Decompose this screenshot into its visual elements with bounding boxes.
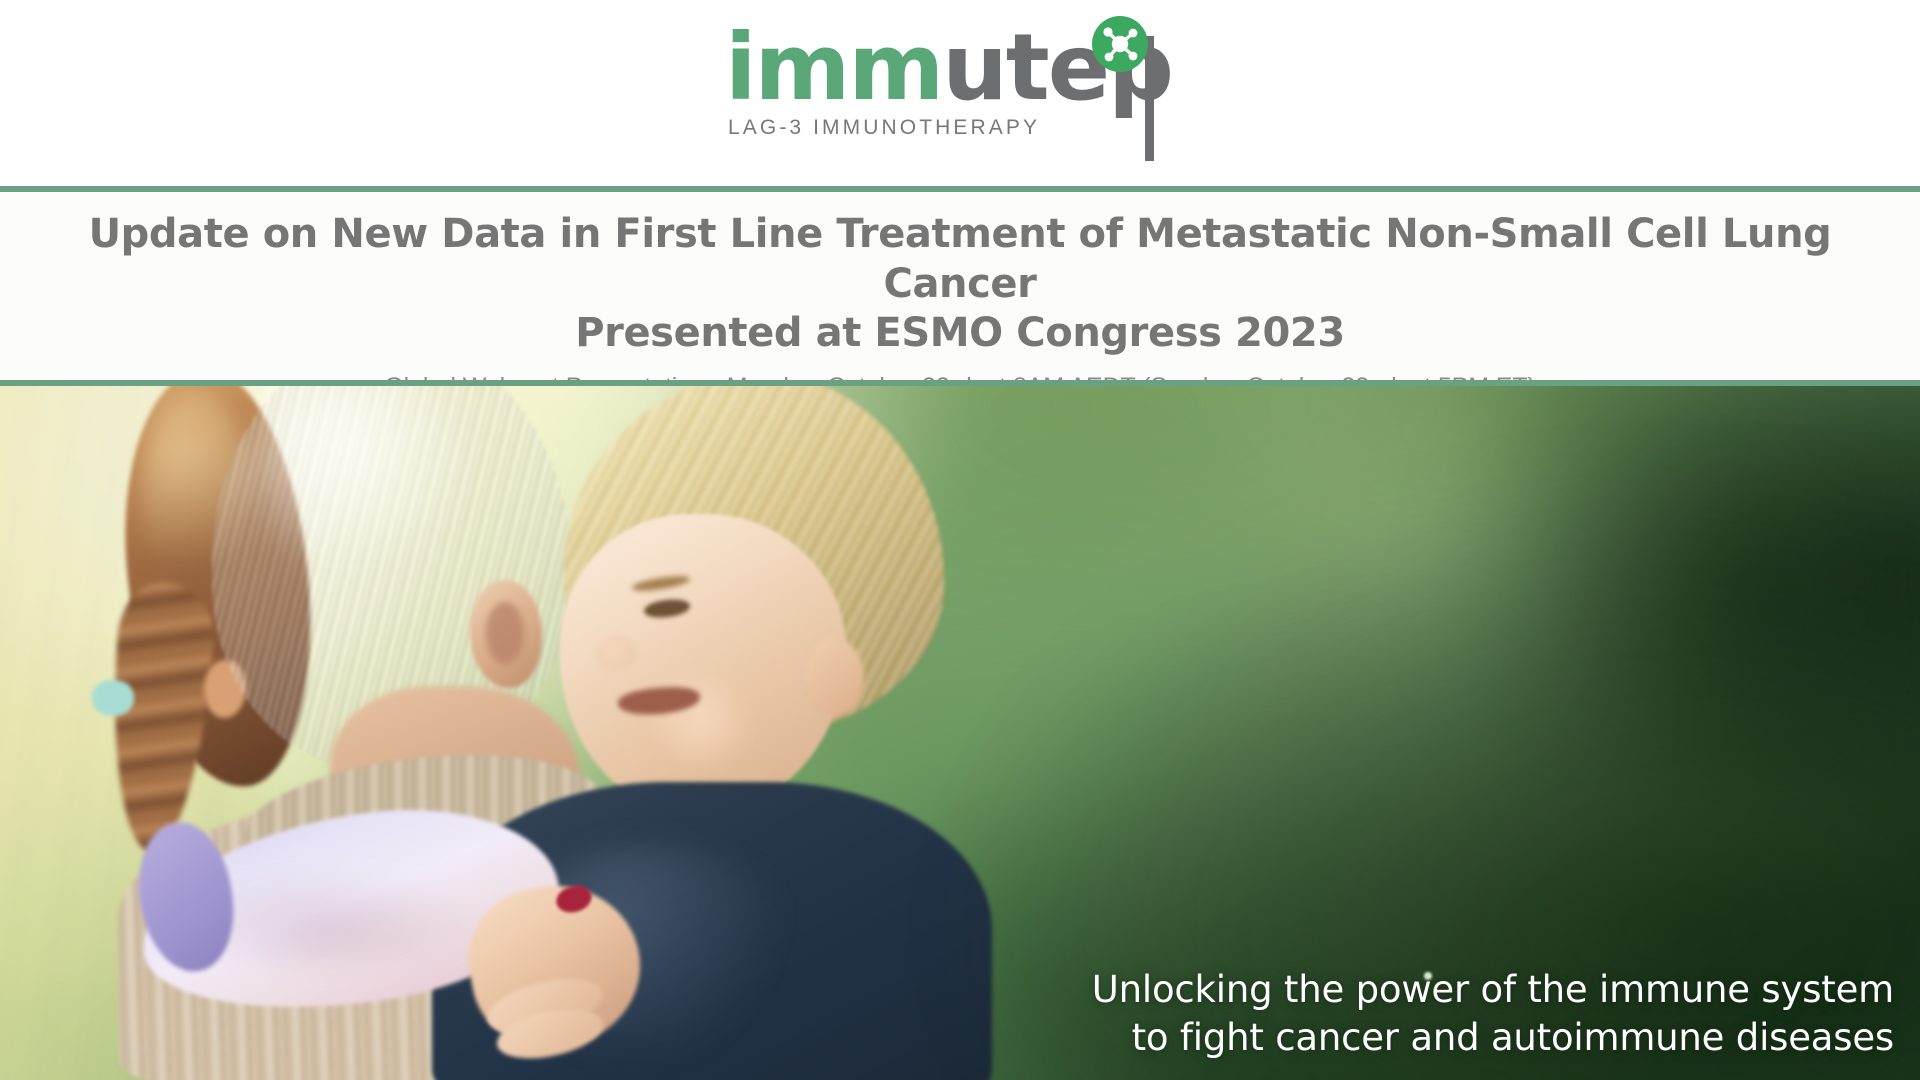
logo-tagline: LAG-3 IMMUNOTHERAPY bbox=[728, 116, 1040, 140]
hero-tagline: Unlocking the power of the immune system… bbox=[1092, 966, 1894, 1062]
page-title: Update on New Data in First Line Treatme… bbox=[0, 210, 1920, 359]
hero-tagline-line-2: to fight cancer and autoimmune diseases bbox=[1092, 1014, 1894, 1062]
hero-photo: Unlocking the power of the immune system… bbox=[0, 386, 1920, 1080]
boy-cheek-highlight bbox=[640, 672, 760, 766]
page-title-line-1: Update on New Data in First Line Treatme… bbox=[30, 210, 1890, 309]
page-title-line-2: Presented at ESMO Congress 2023 bbox=[30, 309, 1890, 359]
grandfather-ear-inner bbox=[486, 602, 524, 664]
girl-hair-clip bbox=[92, 680, 134, 716]
boy-nose bbox=[596, 636, 636, 670]
hero-tagline-line-1: Unlocking the power of the immune system bbox=[1092, 966, 1894, 1014]
immutep-logo[interactable]: immutep LAG-3 IMMUNOTHERAPY bbox=[725, 14, 1195, 169]
title-block: Update on New Data in First Line Treatme… bbox=[0, 192, 1920, 380]
boy-ear bbox=[806, 638, 864, 716]
logo-wordmark: immutep bbox=[725, 22, 1145, 114]
logo-header: immutep LAG-3 IMMUNOTHERAPY bbox=[0, 0, 1920, 186]
molecule-icon bbox=[1092, 16, 1148, 72]
title-slide: immutep LAG-3 IMMUNOTHERAPY bbox=[0, 0, 1920, 1080]
logo-wordmark-green: imm bbox=[725, 14, 942, 121]
